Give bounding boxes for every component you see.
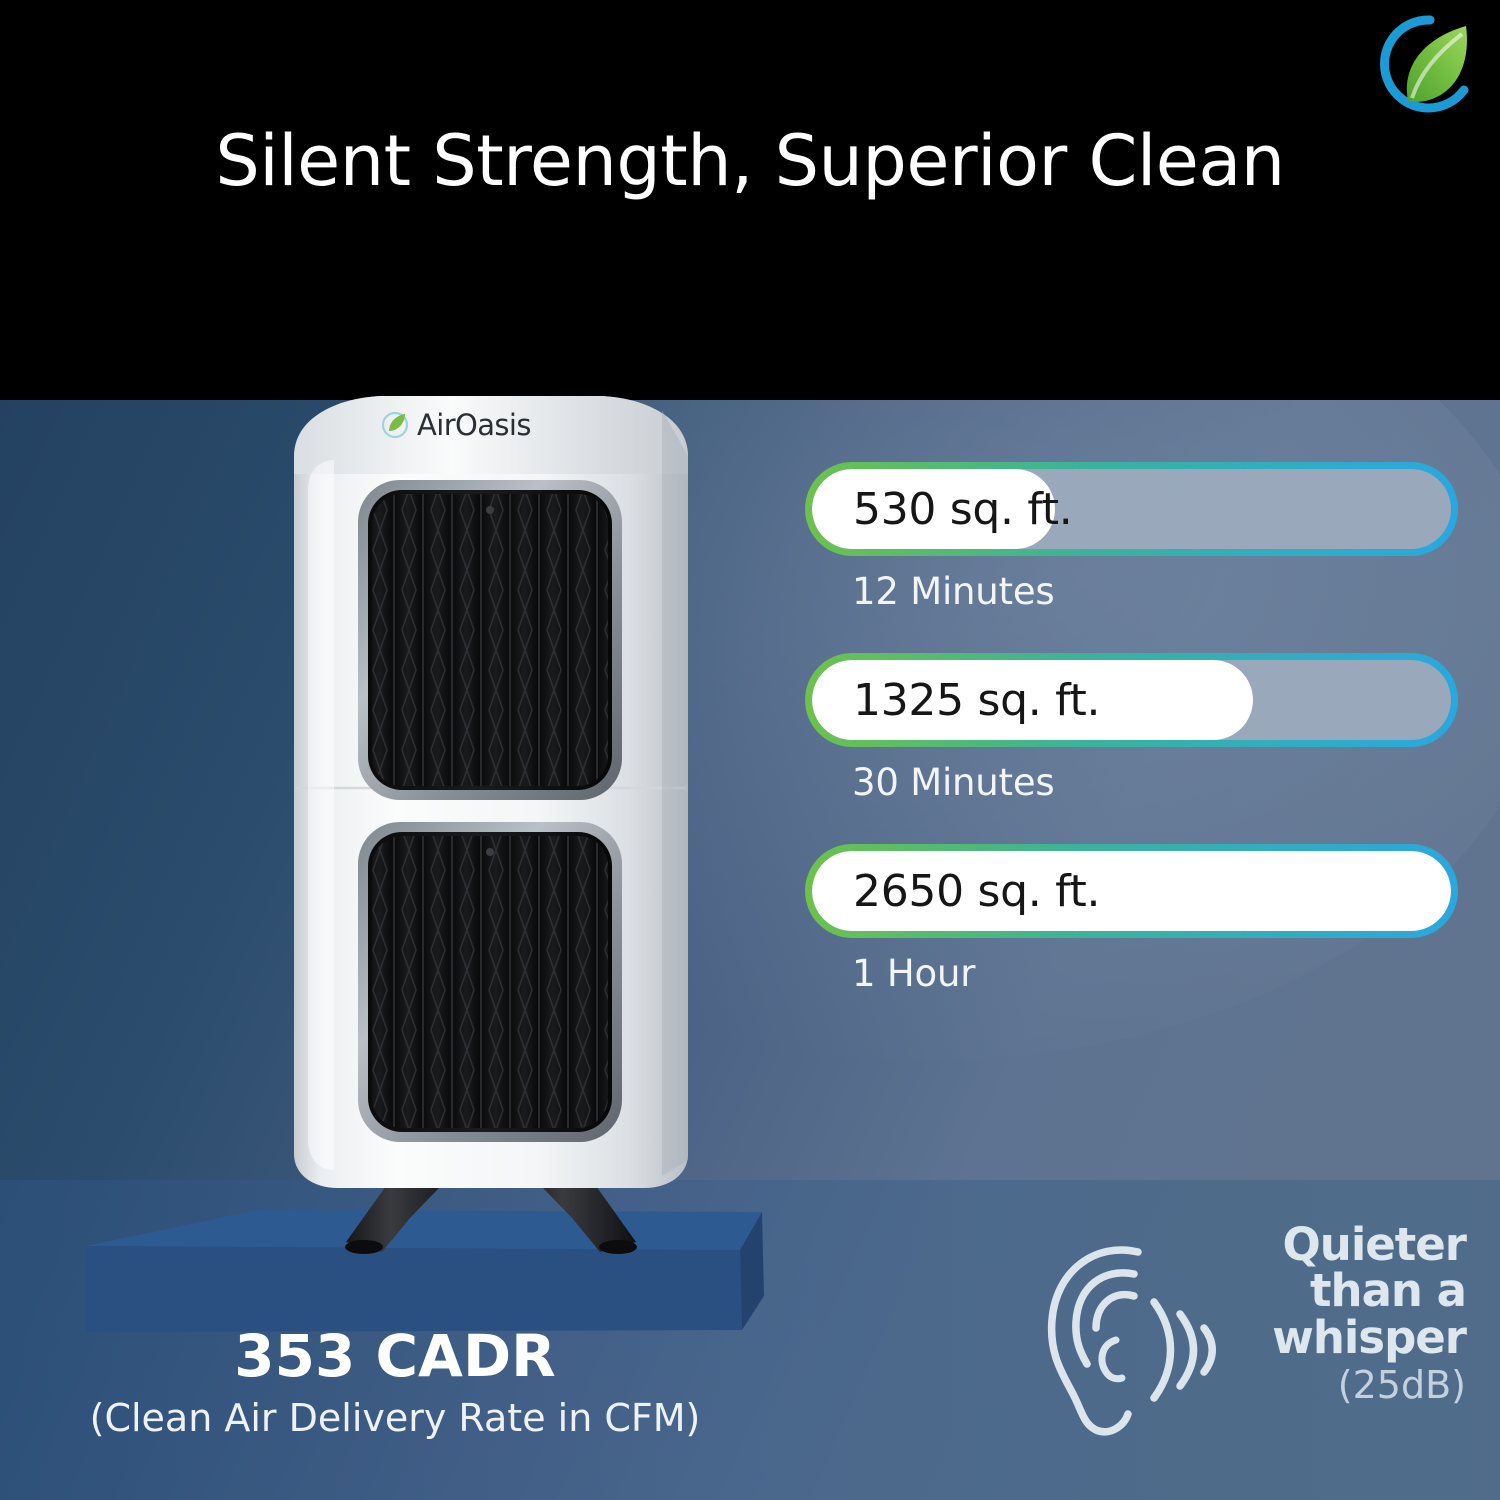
upper-filter-grille — [358, 480, 622, 800]
noise-level-block: Quieter than a whisper (25dB) — [1030, 1222, 1480, 1452]
noise-line-3: whisper — [1216, 1315, 1466, 1361]
air-purifier-product-image: AirOasis — [250, 370, 730, 1290]
cadr-subtext: (Clean Air Delivery Rate in CFM) — [0, 1396, 790, 1440]
page-title: Silent Strength, Superior Clean — [0, 120, 1500, 202]
cadr-block: 353 CADR (Clean Air Delivery Rate in CFM… — [0, 1322, 790, 1440]
coverage-area-label: 1325 sq. ft. — [853, 653, 1100, 747]
noise-level-text: Quieter than a whisper (25dB) — [1216, 1222, 1466, 1409]
progress-bar-track[interactable]: 1325 sq. ft. — [805, 653, 1458, 747]
coverage-bars: 530 sq. ft. 12 Minutes 1325 sq. ft. 30 M… — [805, 462, 1460, 1035]
coverage-area-label: 530 sq. ft. — [853, 462, 1072, 556]
coverage-area-label: 2650 sq. ft. — [853, 844, 1100, 938]
coverage-bar-row: 1325 sq. ft. 30 Minutes — [805, 653, 1460, 804]
ear-with-sound-waves-icon — [1030, 1228, 1230, 1438]
infographic-canvas: AirOasis Silent Strength, Superior C — [0, 0, 1500, 1500]
coverage-time-label: 1 Hour — [852, 952, 1460, 995]
coverage-time-label: 30 Minutes — [852, 761, 1460, 804]
cadr-headline: 353 CADR — [0, 1322, 790, 1390]
coverage-time-label: 12 Minutes — [852, 570, 1460, 613]
coverage-bar-row: 530 sq. ft. 12 Minutes — [805, 462, 1460, 613]
noise-db-label: (25dB) — [1216, 1363, 1466, 1409]
brand-logo — [1378, 12, 1482, 116]
coverage-bar-row: 2650 sq. ft. 1 Hour — [805, 844, 1460, 995]
lower-filter-grille — [358, 822, 622, 1142]
progress-bar-track[interactable]: 2650 sq. ft. — [805, 844, 1458, 938]
noise-line-2: than a — [1216, 1268, 1466, 1314]
progress-bar-track[interactable]: 530 sq. ft. — [805, 462, 1458, 556]
noise-line-1: Quieter — [1216, 1222, 1466, 1268]
svg-text:AirOasis: AirOasis — [417, 408, 531, 442]
